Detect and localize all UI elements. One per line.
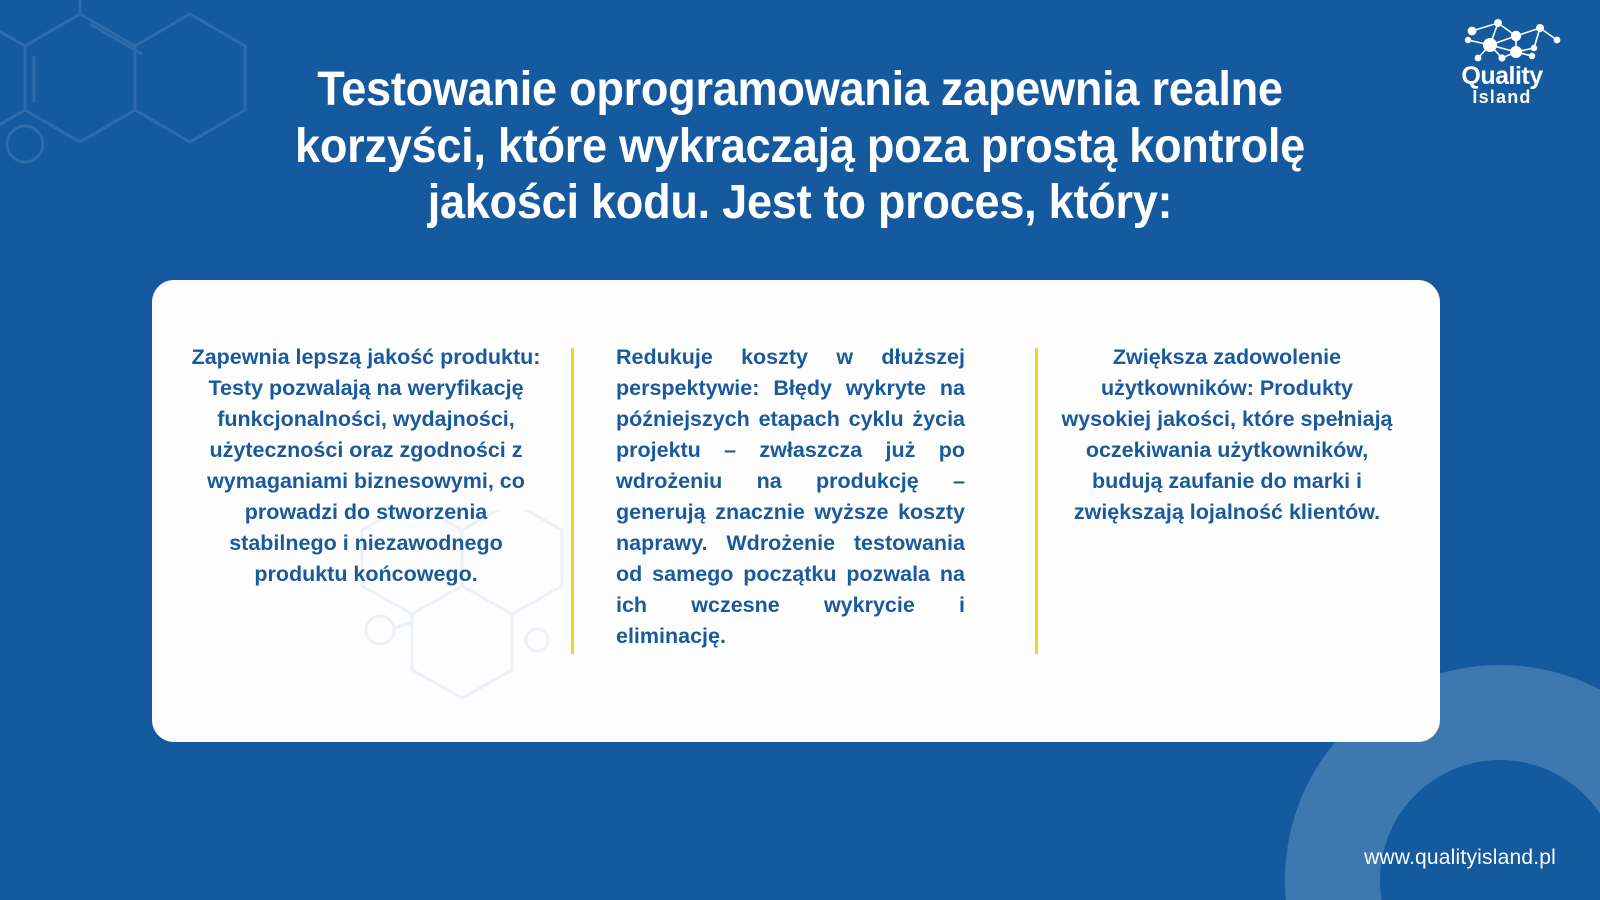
decorative-ring-inner	[1380, 760, 1600, 900]
card-column-satisfaction-text: Zwiększa zadowolenie użytkowników: Produ…	[1061, 345, 1392, 524]
logo-word-quality: Quality	[1442, 64, 1562, 89]
footer-website-url: www.qualityisland.pl	[1364, 846, 1556, 870]
column-divider-2	[1035, 348, 1038, 654]
card-column-costs: Redukuje koszty w dłuższej perspektywie:…	[570, 280, 1010, 652]
hexagon-pattern-icon	[0, 0, 290, 270]
card-column-costs-text: Redukuje koszty w dłuższej perspektywie:…	[616, 345, 965, 648]
page-title: Testowanie oprogramowania zapewnia realn…	[264, 62, 1336, 232]
column-divider-1	[571, 348, 574, 654]
card-columns: Zapewnia lepszą jakość produktu: Testy p…	[152, 280, 1440, 742]
card-column-satisfaction: Zwiększa zadowolenie użytkowników: Produ…	[1010, 280, 1440, 528]
card-column-quality-text: Zapewnia lepszą jakość produktu: Testy p…	[192, 345, 541, 586]
quality-island-logo: Quality Island	[1442, 18, 1562, 110]
network-nodes-icon	[1454, 18, 1562, 64]
logo-word-island: Island	[1442, 88, 1562, 106]
content-card: Zapewnia lepszą jakość produktu: Testy p…	[152, 280, 1440, 742]
card-column-quality: Zapewnia lepszą jakość produktu: Testy p…	[152, 280, 570, 590]
